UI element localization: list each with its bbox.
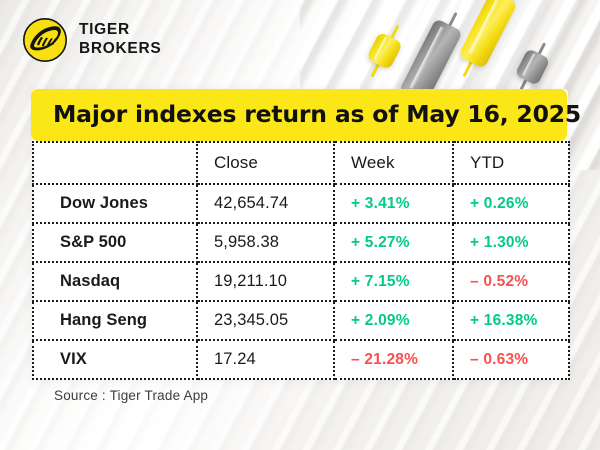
candle-gloss (522, 53, 537, 77)
column-header-ytd-label: YTD (454, 153, 568, 173)
table-row: VIX 17.24 – 21.28% – 0.63% (33, 340, 569, 379)
cell-close: 17.24 (197, 340, 334, 379)
week-value: + 5.27% (335, 234, 452, 252)
candle-body (458, 0, 517, 69)
column-header-ytd: YTD (453, 142, 569, 184)
cell-ytd: + 0.26% (453, 184, 569, 223)
report-card: Major indexes return as of May 16, 2025 … (32, 89, 568, 380)
cell-index-name: Hang Seng (33, 301, 197, 340)
brand-name-line1: TIGER (79, 21, 161, 40)
candle-body (515, 48, 551, 86)
cell-close: 42,654.74 (197, 184, 334, 223)
ytd-value: – 0.63% (454, 351, 568, 369)
poster-canvas: TIGER BROKERS Major indexes return as of… (0, 0, 600, 450)
ytd-value: + 1.30% (454, 234, 568, 252)
cell-index-name: S&P 500 (33, 223, 197, 262)
cell-ytd: + 1.30% (453, 223, 569, 262)
source-note: Source : Tiger Trade App (54, 388, 208, 403)
index-name-label: S&P 500 (34, 233, 196, 252)
table-header-row: Close Week YTD (33, 142, 569, 184)
close-value: 17.24 (198, 350, 333, 369)
brand-name: TIGER BROKERS (79, 21, 161, 59)
column-header-name (33, 142, 197, 184)
close-value: 19,211.10 (198, 272, 333, 291)
cell-ytd: + 16.38% (453, 301, 569, 340)
cell-week: + 5.27% (334, 223, 453, 262)
column-header-week-label: Week (335, 153, 452, 173)
close-value: 42,654.74 (198, 194, 333, 213)
indexes-table: Close Week YTD Dow Jones 42,654.74 + 3.4… (32, 141, 570, 380)
cell-close: 5,958.38 (197, 223, 334, 262)
index-name-label: Hang Seng (34, 311, 196, 330)
table-row: Dow Jones 42,654.74 + 3.41% + 0.26% (33, 184, 569, 223)
week-value: + 3.41% (335, 195, 452, 213)
column-header-close: Close (197, 142, 334, 184)
cell-week: + 7.15% (334, 262, 453, 301)
cell-close: 23,345.05 (197, 301, 334, 340)
table-row: S&P 500 5,958.38 + 5.27% + 1.30% (33, 223, 569, 262)
table-body: Dow Jones 42,654.74 + 3.41% + 0.26% S&P … (33, 184, 569, 379)
brand-lockup: TIGER BROKERS (22, 17, 161, 63)
ytd-value: – 0.52% (454, 273, 568, 291)
cell-index-name: Nasdaq (33, 262, 197, 301)
cell-ytd: – 0.63% (453, 340, 569, 379)
week-value: + 7.15% (335, 273, 452, 291)
index-name-label: VIX (34, 350, 196, 369)
page-title: Major indexes return as of May 16, 2025 (53, 100, 567, 128)
close-value: 5,958.38 (198, 233, 333, 252)
cell-week: – 21.28% (334, 340, 453, 379)
ytd-value: + 16.38% (454, 312, 568, 330)
column-header-week: Week (334, 142, 453, 184)
index-name-label: Dow Jones (34, 194, 196, 213)
ytd-value: + 0.26% (454, 195, 568, 213)
tiger-circle-logo-icon (22, 17, 68, 63)
cell-index-name: VIX (33, 340, 197, 379)
candle-yellow-small-icon (363, 23, 408, 78)
cell-close: 19,211.10 (197, 262, 334, 301)
candle-yellow-large-icon (453, 0, 521, 80)
column-header-close-label: Close (198, 153, 333, 173)
cell-week: + 3.41% (334, 184, 453, 223)
cell-ytd: – 0.52% (453, 262, 569, 301)
cell-index-name: Dow Jones (33, 184, 197, 223)
index-name-label: Nasdaq (34, 272, 196, 291)
brand-name-line2: BROKERS (79, 40, 161, 59)
candle-body (366, 32, 403, 71)
cell-week: + 2.09% (334, 301, 453, 340)
table-row: Hang Seng 23,345.05 + 2.09% + 16.38% (33, 301, 569, 340)
week-value: + 2.09% (335, 312, 452, 330)
candle-gloss (374, 36, 389, 60)
candle-gloss (468, 0, 500, 54)
table-row: Nasdaq 19,211.10 + 7.15% – 0.52% (33, 262, 569, 301)
close-value: 23,345.05 (198, 311, 333, 330)
candle-gray-small-icon (511, 41, 554, 93)
week-value: – 21.28% (335, 351, 452, 369)
candle-gloss (410, 26, 445, 89)
title-banner: Major indexes return as of May 16, 2025 (31, 89, 567, 141)
